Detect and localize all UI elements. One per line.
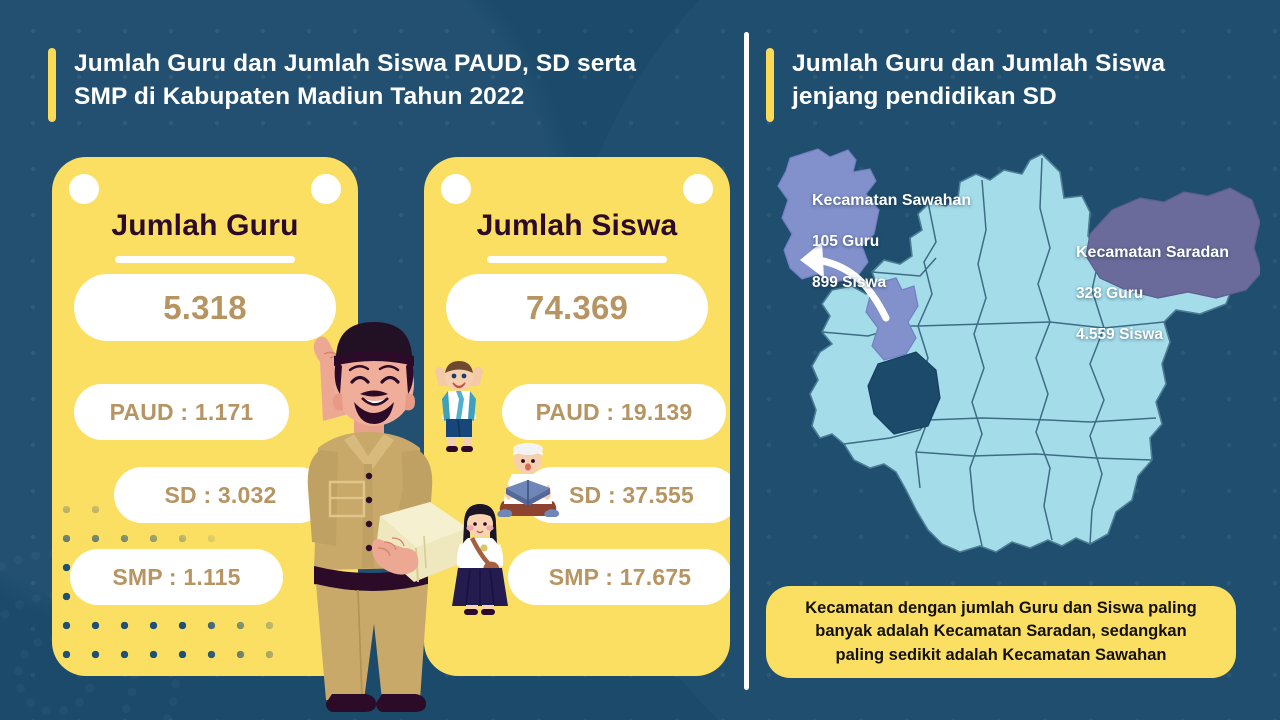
title-accent-bar — [48, 48, 56, 122]
stat-card-jumlah-guru: Jumlah Guru 5.318 PAUD : 1.171 SD : 3.03… — [52, 157, 358, 676]
panel-divider — [744, 32, 749, 690]
total-value-pill: 5.318 — [74, 274, 336, 341]
title-accent-bar — [766, 48, 774, 122]
map-label-siswa: 4.559 Siswa — [1076, 326, 1163, 343]
breakdown-pill-sd: SD : 3.032 — [114, 467, 327, 523]
right-title-text: Jumlah Guru dan Jumlah Siswa jenjang pen… — [792, 48, 1165, 114]
punch-hole-icon — [311, 174, 341, 204]
left-title-text: Jumlah Guru dan Jumlah Siswa PAUD, SD se… — [74, 48, 636, 114]
summary-note-text: Kecamatan dengan jumlah Guru dan Siswa p… — [805, 597, 1197, 667]
map-label-sawahan: Kecamatan Sawahan 105 Guru 899 Siswa — [812, 170, 971, 293]
punch-hole-icon — [69, 174, 99, 204]
heading-underline — [487, 256, 667, 263]
breakdown-pill-paud: PAUD : 19.139 — [502, 384, 726, 440]
total-value-pill: 74.369 — [446, 274, 708, 341]
map-label-name: Kecamatan Sawahan — [812, 190, 971, 211]
heading-underline — [115, 256, 295, 263]
summary-note-box: Kecamatan dengan jumlah Guru dan Siswa p… — [766, 586, 1236, 678]
breakdown-pill-paud: PAUD : 1.171 — [74, 384, 289, 440]
card-heading: Jumlah Guru — [52, 209, 358, 243]
breakdown-pill-smp: SMP : 1.115 — [70, 549, 283, 605]
map-label-guru: 105 Guru — [812, 233, 879, 250]
breakdown-pill-sd: SD : 37.555 — [524, 467, 730, 523]
map-label-saradan: Kecamatan Saradan 328 Guru 4.559 Siswa — [1076, 222, 1229, 345]
left-panel-title: Jumlah Guru dan Jumlah Siswa PAUD, SD se… — [48, 48, 708, 122]
punch-hole-icon — [683, 174, 713, 204]
breakdown-pill-smp: SMP : 17.675 — [508, 549, 730, 605]
punch-hole-icon — [441, 174, 471, 204]
card-heading: Jumlah Siswa — [424, 209, 730, 243]
right-panel-title: Jumlah Guru dan Jumlah Siswa jenjang pen… — [766, 48, 1236, 122]
map-label-siswa: 899 Siswa — [812, 274, 886, 291]
stat-card-jumlah-siswa: Jumlah Siswa 74.369 PAUD : 19.139 SD : 3… — [424, 157, 730, 676]
map-label-name: Kecamatan Saradan — [1076, 242, 1229, 263]
map-label-guru: 328 Guru — [1076, 285, 1143, 302]
